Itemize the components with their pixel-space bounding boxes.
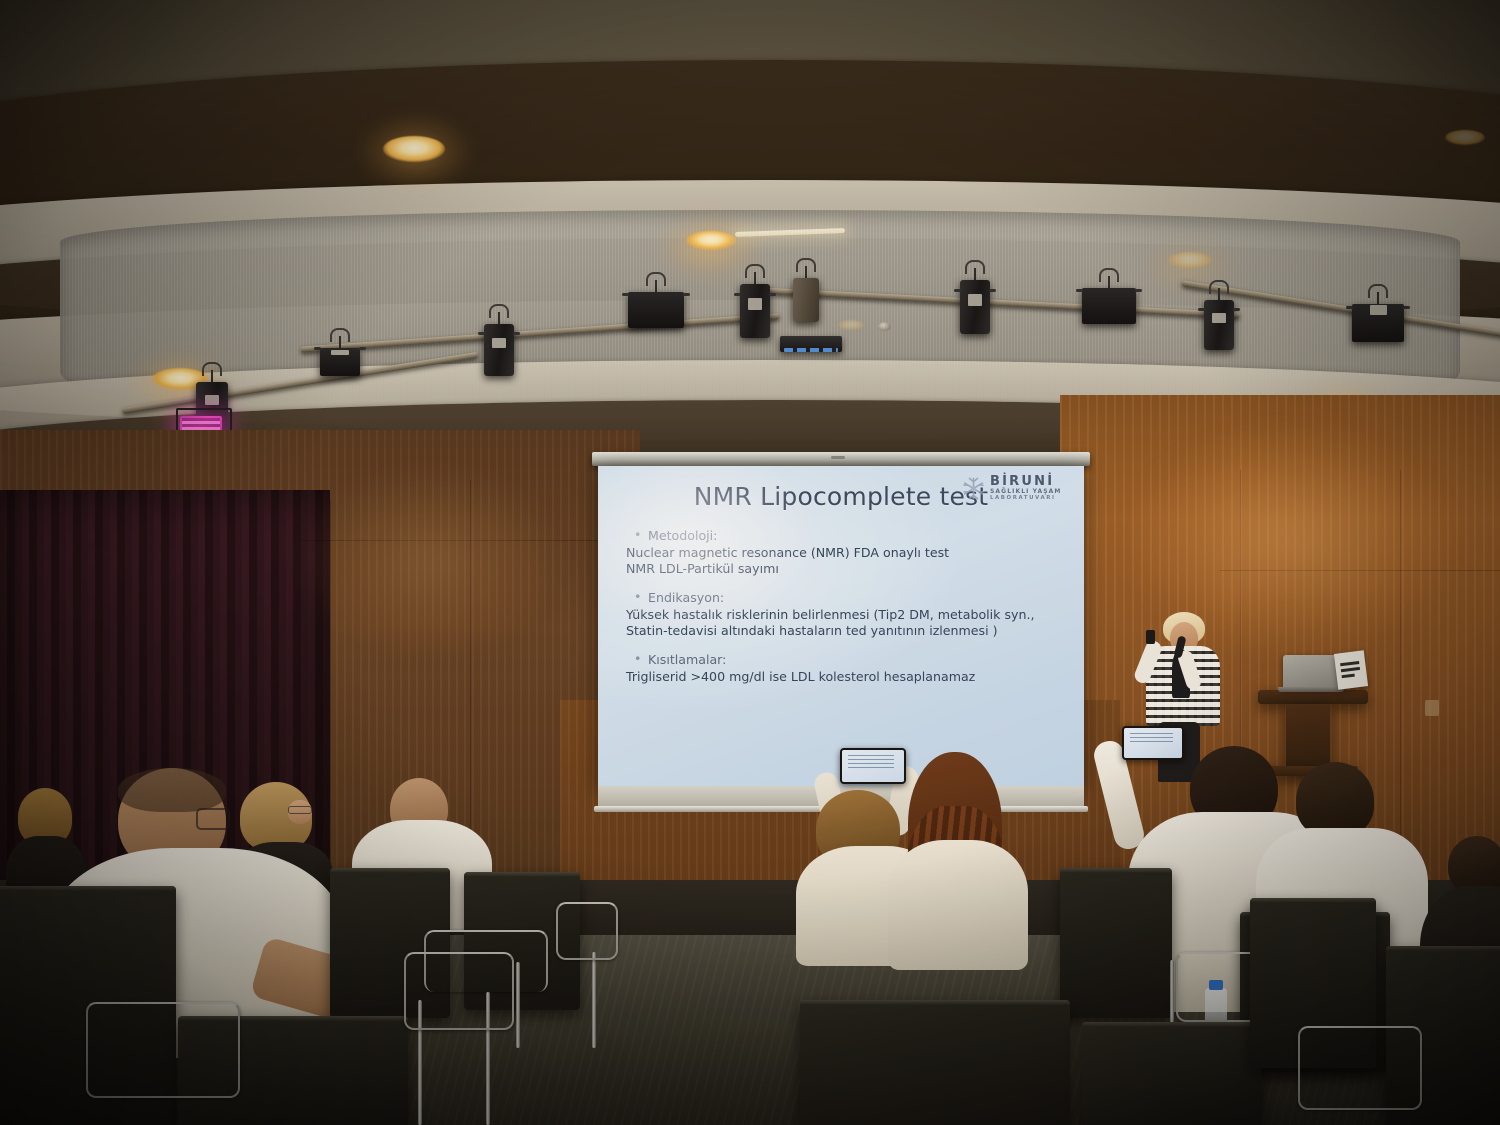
slide-block: Kısıtlamalar: Trigliserid >400 mg/dl ise… [626,652,1066,685]
wall-light-wash-left [300,470,560,650]
stage-light-3 [628,280,684,322]
smartphone-screen [842,750,904,782]
slide-block: Endikasyon: Yüksek hastalık risklerinin … [626,590,1066,639]
slide-line: Statin-tedavisi altındaki hastaların ted… [626,623,1066,639]
stage-light-2 [484,312,514,376]
logo-tagline-1: SAĞLIKLI YAŞAM [990,488,1062,495]
presenter-clicker [1146,630,1155,644]
stage-light-6 [960,268,990,334]
projector-screen-housing [592,452,1090,466]
chair-armrest[interactable] [86,1002,240,1098]
chair[interactable] [800,1000,1070,1125]
stage-light-5-rigging [793,266,819,324]
chair[interactable] [1060,868,1172,1018]
projection-screen: NMR Lipocomplete test [598,466,1084,786]
chair-leg [516,962,520,1048]
attendee-curly-torso [888,840,1028,970]
stage-light-9 [1352,292,1404,336]
smartphone-recording[interactable] [840,748,906,784]
downlight-2 [686,231,736,250]
slide: NMR Lipocomplete test [598,466,1084,786]
smartphone-screen [1124,728,1182,758]
logo-name: BİRUNİ [990,475,1062,488]
slide-line: Trigliserid >400 mg/dl ise LDL kolestero… [626,669,1066,685]
slide-line: Yüksek hastalık risklerinin belirlenmesi… [626,607,1066,623]
wall-socket [1425,700,1439,716]
chair-armrest[interactable] [556,902,618,960]
slide-line: Nuclear magnetic resonance (NMR) FDA ona… [626,545,1066,561]
stage-light-7 [1082,276,1136,318]
chair-armrest[interactable] [1298,1026,1422,1110]
dimmer-pack-leds [784,348,838,352]
snowflake-icon [960,475,987,502]
logo-tagline-2: LABORATUVARI [990,495,1062,502]
downlight-10 [1168,252,1212,268]
chair-armrest[interactable] [404,952,514,1030]
downlight-11 [838,320,864,330]
slide-bullet: Metodoloji: [626,528,1066,544]
podium-column [1286,704,1330,770]
stage-light-8 [1204,288,1234,350]
table-sign-card [1334,650,1368,689]
slide-line: NMR LDL-Partikül sayımı [626,561,1066,577]
slide-bullet: Kısıtlamalar: [626,652,1066,668]
biruni-logo: BİRUNİ SAĞLIKLI YAŞAM LABORATUVARI [960,472,1078,504]
podium-top [1258,690,1368,704]
downlight-1 [383,136,445,162]
ceiling-dome-speaker [878,322,891,331]
laptop-base [1278,687,1344,692]
stage-light-1 [320,336,360,370]
downlight-12 [1445,130,1485,145]
chair[interactable] [1082,1022,1262,1125]
slide-body: Metodoloji: Nuclear magnetic resonance (… [626,528,1066,698]
slide-bullet: Endikasyon: [626,590,1066,606]
laptop-screen [1283,655,1339,689]
stage-light-4 [740,272,770,338]
attendee-bald-hair-fringe [118,768,226,812]
eyeglasses-icon [196,808,230,830]
chair-leg [592,952,596,1048]
attendee-updo-hair [1296,762,1374,838]
smartphone-raised[interactable] [1122,726,1184,760]
eyeglasses-icon [288,806,312,814]
auditorium-photo: NMR Lipocomplete test [0,0,1500,1125]
slide-block: Metodoloji: Nuclear magnetic resonance (… [626,528,1066,577]
